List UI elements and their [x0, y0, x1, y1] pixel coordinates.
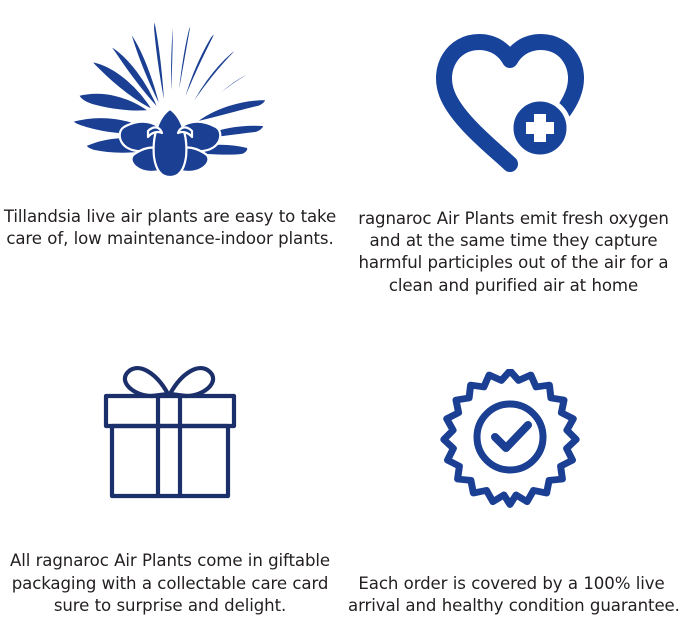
verified-badge-check-icon: [440, 369, 580, 509]
air-plant-icon-well: [0, 0, 340, 192]
feature-cell-air-plant: Tillandsia live air plants are easy to t…: [0, 0, 340, 308]
feature-cell-giftable-packaging: All ragnaroc Air Plants come in giftable…: [0, 308, 340, 617]
caption-line: and at the same time they capture: [348, 230, 679, 252]
verified-badge-icon-well: [340, 308, 679, 519]
gift-box-icon: [90, 348, 250, 500]
heart-plus-icon-well: [340, 0, 679, 198]
caption-line: harmful participles out of the air for a: [348, 252, 679, 274]
caption-line: care of, low maintenance-indoor plants.: [2, 228, 338, 250]
feature-cell-clean-air: ragnaroc Air Plants emit fresh oxygen an…: [340, 0, 679, 308]
caption-line: clean and purified air at home: [348, 275, 679, 297]
feature-cell-guarantee: Each order is covered by a 100% live arr…: [340, 308, 679, 617]
gift-box-icon-well: [0, 308, 340, 500]
caption-line: All ragnaroc Air Plants come in giftable: [6, 550, 334, 572]
feature-caption-clean-air: ragnaroc Air Plants emit fresh oxygen an…: [340, 208, 679, 297]
feature-grid: Tillandsia live air plants are easy to t…: [0, 0, 679, 617]
caption-line: Each order is covered by a 100% live: [348, 573, 675, 595]
caption-line: arrival and healthy condition guarantee.: [348, 595, 675, 617]
feature-caption-guarantee: Each order is covered by a 100% live arr…: [340, 573, 679, 617]
caption-line: Tillandsia live air plants are easy to t…: [2, 206, 338, 228]
caption-line: ragnaroc Air Plants emit fresh oxygen: [348, 208, 679, 230]
caption-line: packaging with a collectable care card: [6, 573, 334, 595]
feature-caption-giftable-packaging: All ragnaroc Air Plants come in giftable…: [0, 550, 340, 617]
caption-line: sure to surprise and delight.: [6, 595, 334, 617]
air-plant-icon: [70, 15, 270, 180]
feature-caption-air-plant: Tillandsia live air plants are easy to t…: [0, 206, 340, 250]
heart-plus-icon: [435, 32, 585, 174]
